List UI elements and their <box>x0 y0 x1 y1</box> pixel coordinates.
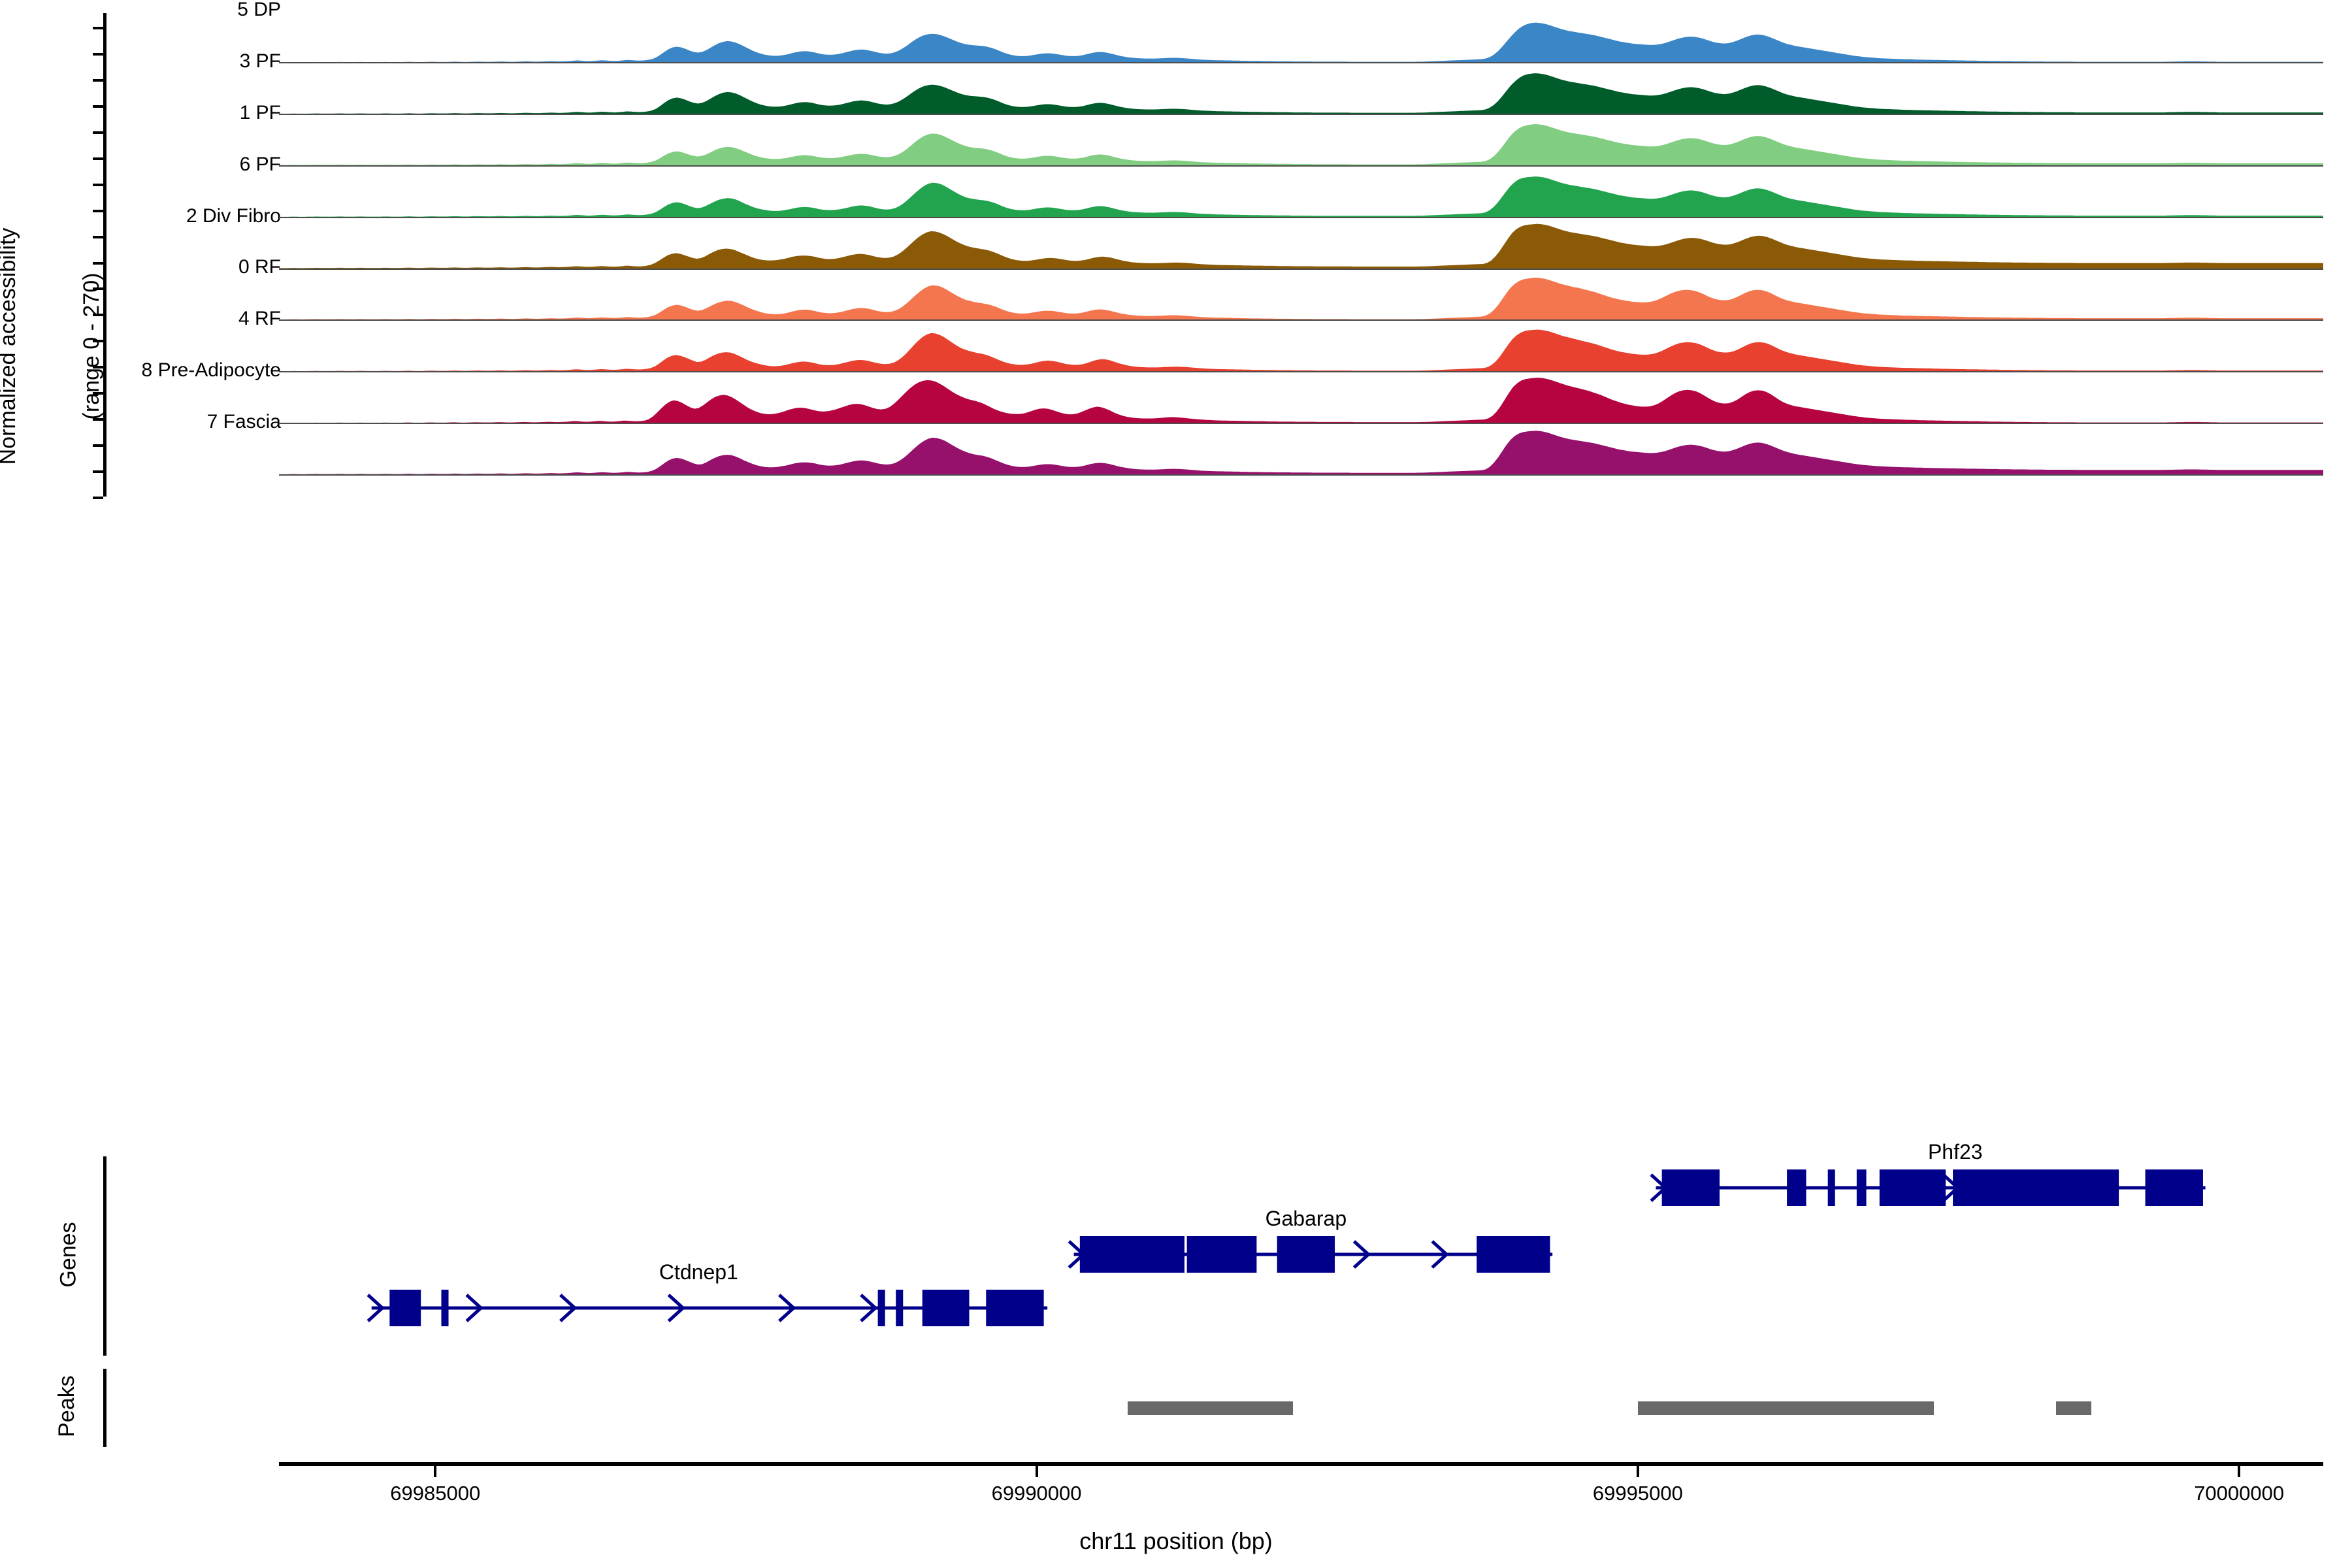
genes-track: Ctdnep1GabarapPhf23 <box>279 1156 2323 1356</box>
coverage-area <box>279 224 2323 269</box>
gene-exon <box>1787 1169 1806 1206</box>
gene-exon <box>1187 1236 1257 1273</box>
y-axis-label: Normalized accessibility (range 0 - 270) <box>0 98 161 595</box>
coverage-area <box>279 23 2323 63</box>
y-axis-label-line1: Normalized accessibility <box>0 98 22 595</box>
coverage-axis-tick <box>93 184 103 186</box>
coverage-axis-tick <box>93 53 103 56</box>
gene-exon <box>1828 1169 1835 1206</box>
coverage-track-8-pre-adipocyte <box>279 376 2323 427</box>
coverage-track-3-pf <box>279 67 2323 118</box>
gene-exon <box>389 1290 421 1326</box>
coverage-axis-tick <box>93 392 103 395</box>
gene-exon <box>1857 1169 1867 1206</box>
track-label-5-dp: 5 DP <box>237 0 281 21</box>
coverage-area <box>279 124 2323 166</box>
coverage-axis-tick <box>93 314 103 316</box>
peak-bar <box>1128 1401 1292 1415</box>
peak-bar <box>2056 1401 2091 1415</box>
genes-svg: Ctdnep1GabarapPhf23 <box>279 1156 2323 1356</box>
genes-section-label: Genes <box>56 1222 82 1287</box>
gene-exon <box>1277 1236 1335 1273</box>
coverage-axis-tick <box>93 79 103 82</box>
gene-name-label: Gabarap <box>1266 1207 1347 1230</box>
y-axis-label-line2: (range 0 - 270) <box>78 98 106 595</box>
gene-name-label: Phf23 <box>1928 1140 1983 1164</box>
coverage-track-6-pf <box>279 171 2323 221</box>
gene-exon <box>1080 1236 1184 1273</box>
coverage-track-1-pf <box>279 119 2323 170</box>
coverage-axis-tick <box>93 470 103 473</box>
coverage-area <box>279 176 2323 218</box>
coverage-area <box>279 329 2323 372</box>
x-axis-tick-label: 69985000 <box>331 1482 540 1505</box>
gene-exon <box>2146 1169 2203 1206</box>
coverage-axis-spine <box>103 13 106 497</box>
gene-exon <box>878 1290 885 1326</box>
coverage-axis-tick <box>93 105 103 108</box>
coverage-axis-tick <box>93 236 103 238</box>
track-label-7-fascia: 7 Fascia <box>207 411 281 433</box>
x-axis-tick-label: 69990000 <box>932 1482 1141 1505</box>
coverage-area <box>279 278 2323 320</box>
coverage-track-2-div-fibro <box>279 222 2323 273</box>
coverage-track-0-rf <box>279 273 2323 324</box>
peaks-section-label: Peaks <box>54 1375 80 1437</box>
coverage-area <box>279 378 2323 423</box>
x-axis-title: chr11 position (bp) <box>0 1527 2352 1555</box>
peaks-axis-spine <box>103 1369 106 1447</box>
coverage-axis-tick <box>93 210 103 212</box>
track-label-6-pf: 6 PF <box>240 154 281 176</box>
coverage-axis-tick <box>93 287 103 290</box>
gene-exon <box>1662 1169 1720 1206</box>
coverage-axis-tick <box>93 444 103 447</box>
coverage-axis-tick <box>93 340 103 342</box>
track-label-2-div-fibro: 2 Div Fibro <box>186 205 281 227</box>
x-axis-tick <box>434 1466 436 1477</box>
x-axis-tick <box>2238 1466 2240 1477</box>
coverage-track-7-fascia <box>279 428 2323 479</box>
genes-axis-spine <box>103 1156 106 1356</box>
coverage-track-5-dp <box>279 16 2323 67</box>
coverage-axis-tick <box>93 418 103 421</box>
track-label-0-rf: 0 RF <box>238 256 281 278</box>
x-axis-tick <box>1036 1466 1038 1477</box>
coverage-axis-tick <box>93 157 103 160</box>
genome-browser-figure: Normalized accessibility (range 0 - 270)… <box>0 0 2352 1568</box>
gene-exon <box>1953 1169 2119 1206</box>
peak-bar <box>1638 1401 1934 1415</box>
x-axis-tick-label: 70000000 <box>2134 1482 2344 1505</box>
coverage-area <box>279 73 2323 114</box>
gene-exon <box>896 1290 903 1326</box>
coverage-area <box>279 431 2323 475</box>
x-axis-spine <box>279 1462 2323 1466</box>
coverage-axis-tick <box>93 366 103 368</box>
track-label-8-pre-adipocyte: 8 Pre-Adipocyte <box>142 359 281 382</box>
gene-exon <box>986 1290 1043 1326</box>
gene-exon <box>1880 1169 1946 1206</box>
gene-name-label: Ctdnep1 <box>659 1260 738 1284</box>
x-axis-tick-label: 69995000 <box>1533 1482 1742 1505</box>
coverage-axis-tick <box>93 497 103 499</box>
track-label-1-pf: 1 PF <box>240 102 281 124</box>
peaks-track <box>279 1369 2323 1447</box>
gene-exon <box>923 1290 970 1326</box>
coverage-track-4-rf <box>279 325 2323 376</box>
gene-exon <box>1477 1236 1550 1273</box>
coverage-axis-tick <box>93 27 103 29</box>
x-axis-tick <box>1637 1466 1639 1477</box>
gene-exon <box>441 1290 448 1326</box>
track-label-3-pf: 3 PF <box>240 50 281 73</box>
coverage-axis-tick <box>93 262 103 265</box>
coverage-axis-tick <box>93 131 103 134</box>
track-label-4-rf: 4 RF <box>238 308 281 330</box>
